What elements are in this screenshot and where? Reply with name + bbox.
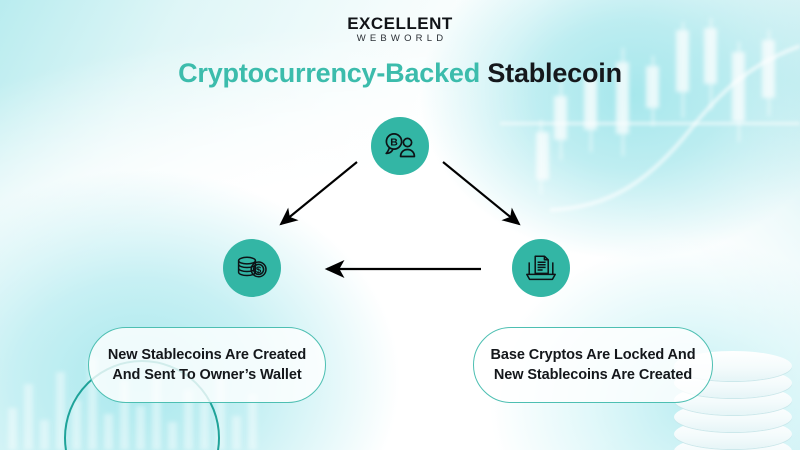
callout-box-base-cryptos[interactable]: Base Cryptos Are Locked And New Stableco… (473, 327, 713, 403)
infographic-canvas: EXCELLENT WEBWORLD Cryptocurrency-Backed… (0, 0, 800, 450)
brand-logo-line2: WEBWORLD (0, 33, 800, 45)
svg-text:$: $ (256, 265, 262, 276)
node-smart-contract[interactable] (512, 239, 570, 297)
coin-stack-dollar-icon: $ (235, 253, 269, 283)
smart-contract-icon (525, 253, 557, 283)
brand-logo-line1: EXCELLENT (0, 14, 800, 33)
svg-text:B: B (390, 137, 398, 149)
page-title-rest: Stablecoin (487, 58, 622, 88)
node-stablecoins[interactable]: $ (223, 239, 281, 297)
page-title-highlight: Cryptocurrency-Backed (178, 58, 480, 88)
bitcoin-user-icon: B (383, 131, 417, 161)
page-title: Cryptocurrency-Backed Stablecoin (0, 57, 800, 89)
brand-logo: EXCELLENT WEBWORLD (0, 14, 800, 45)
node-bitcoin-owner[interactable]: B (371, 117, 429, 175)
callout-box-stablecoins[interactable]: New Stablecoins Are Created And Sent To … (88, 327, 326, 403)
chart-baseline-decoration (500, 122, 800, 125)
